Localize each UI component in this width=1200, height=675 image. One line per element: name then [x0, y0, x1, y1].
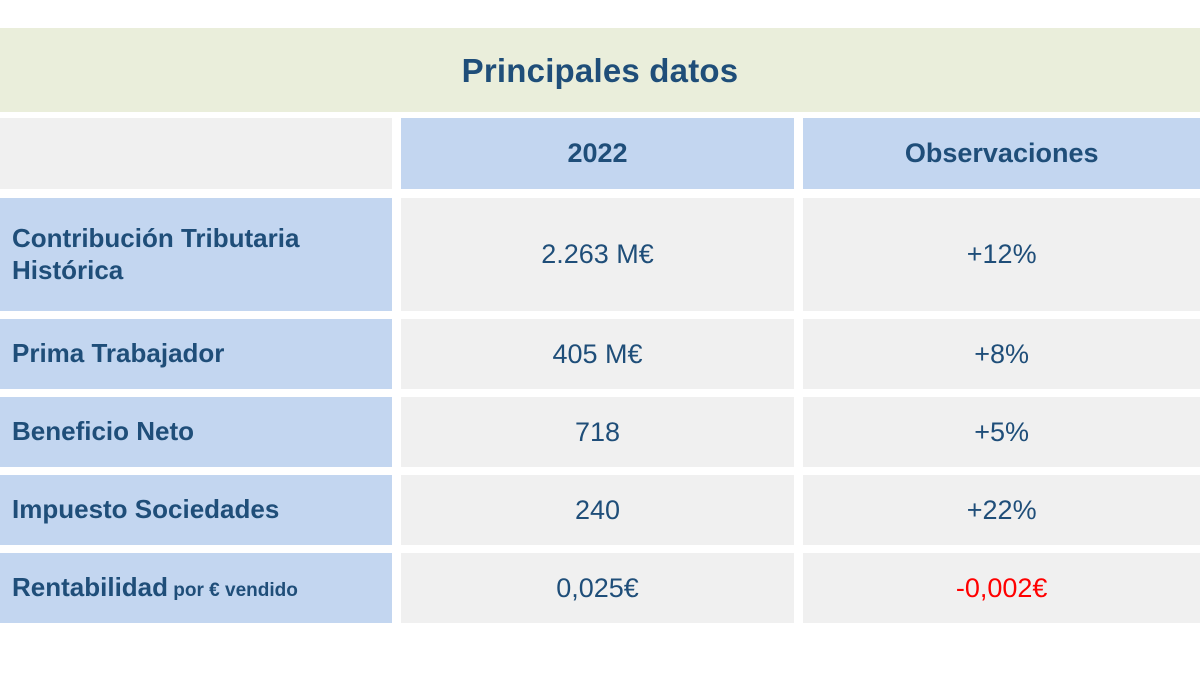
table-row: Rentabilidad por € vendido 0,025€ -0,002… — [0, 553, 1200, 623]
table-row: Beneficio Neto 718 +5% — [0, 397, 1200, 467]
row-label-cell: Beneficio Neto — [0, 397, 392, 467]
slide-canvas: Principales datos 2022 Observaciones Con… — [0, 0, 1200, 675]
row-label-text: Beneficio Neto — [12, 416, 194, 448]
header-cell-year: 2022 — [401, 118, 795, 189]
table-header-row: 2022 Observaciones — [0, 118, 1200, 189]
header-cell-observaciones: Observaciones — [803, 118, 1200, 189]
row-label-text: Contribución Tributaria Histórica — [12, 223, 384, 286]
main-data-table: 2022 Observaciones Contribución Tributar… — [0, 118, 1200, 631]
row-label-sub: por € vendido — [168, 580, 298, 601]
row-value-text: 0,025€ — [556, 573, 639, 604]
row-value-cell: 0,025€ — [401, 553, 795, 623]
row-label-cell: Prima Trabajador — [0, 319, 392, 389]
row-label-cell: Contribución Tributaria Histórica — [0, 198, 392, 311]
row-value-cell: 2.263 M€ — [401, 198, 795, 311]
row-note-cell: +12% — [803, 198, 1200, 311]
row-label-text: Rentabilidad por € vendido — [12, 572, 298, 604]
row-value-cell: 405 M€ — [401, 319, 795, 389]
row-note-text: +5% — [974, 417, 1029, 448]
row-note-text: +12% — [967, 239, 1037, 270]
row-label-cell: Rentabilidad por € vendido — [0, 553, 392, 623]
row-note-cell: -0,002€ — [803, 553, 1200, 623]
row-label-cell: Impuesto Sociedades — [0, 475, 392, 545]
row-note-text: -0,002€ — [956, 573, 1048, 604]
row-value-text: 2.263 M€ — [541, 239, 654, 270]
row-note-text: +22% — [967, 495, 1037, 526]
row-value-text: 718 — [575, 417, 620, 448]
table-row: Impuesto Sociedades 240 +22% — [0, 475, 1200, 545]
table-row: Prima Trabajador 405 M€ +8% — [0, 319, 1200, 389]
table-row: Contribución Tributaria Histórica 2.263 … — [0, 198, 1200, 311]
page-title: Principales datos — [462, 54, 739, 87]
row-note-cell: +22% — [803, 475, 1200, 545]
row-value-cell: 240 — [401, 475, 795, 545]
row-label-text: Impuesto Sociedades — [12, 494, 279, 526]
row-note-text: +8% — [974, 339, 1029, 370]
row-label-main: Rentabilidad — [12, 572, 168, 602]
header-cell-blank — [0, 118, 392, 189]
header-label-year: 2022 — [567, 138, 627, 169]
row-label-text: Prima Trabajador — [12, 338, 224, 370]
row-note-cell: +8% — [803, 319, 1200, 389]
row-value-text: 240 — [575, 495, 620, 526]
row-note-cell: +5% — [803, 397, 1200, 467]
slide-title-band: Principales datos — [0, 28, 1200, 112]
row-value-cell: 718 — [401, 397, 795, 467]
header-label-observaciones: Observaciones — [905, 138, 1099, 169]
row-value-text: 405 M€ — [552, 339, 642, 370]
